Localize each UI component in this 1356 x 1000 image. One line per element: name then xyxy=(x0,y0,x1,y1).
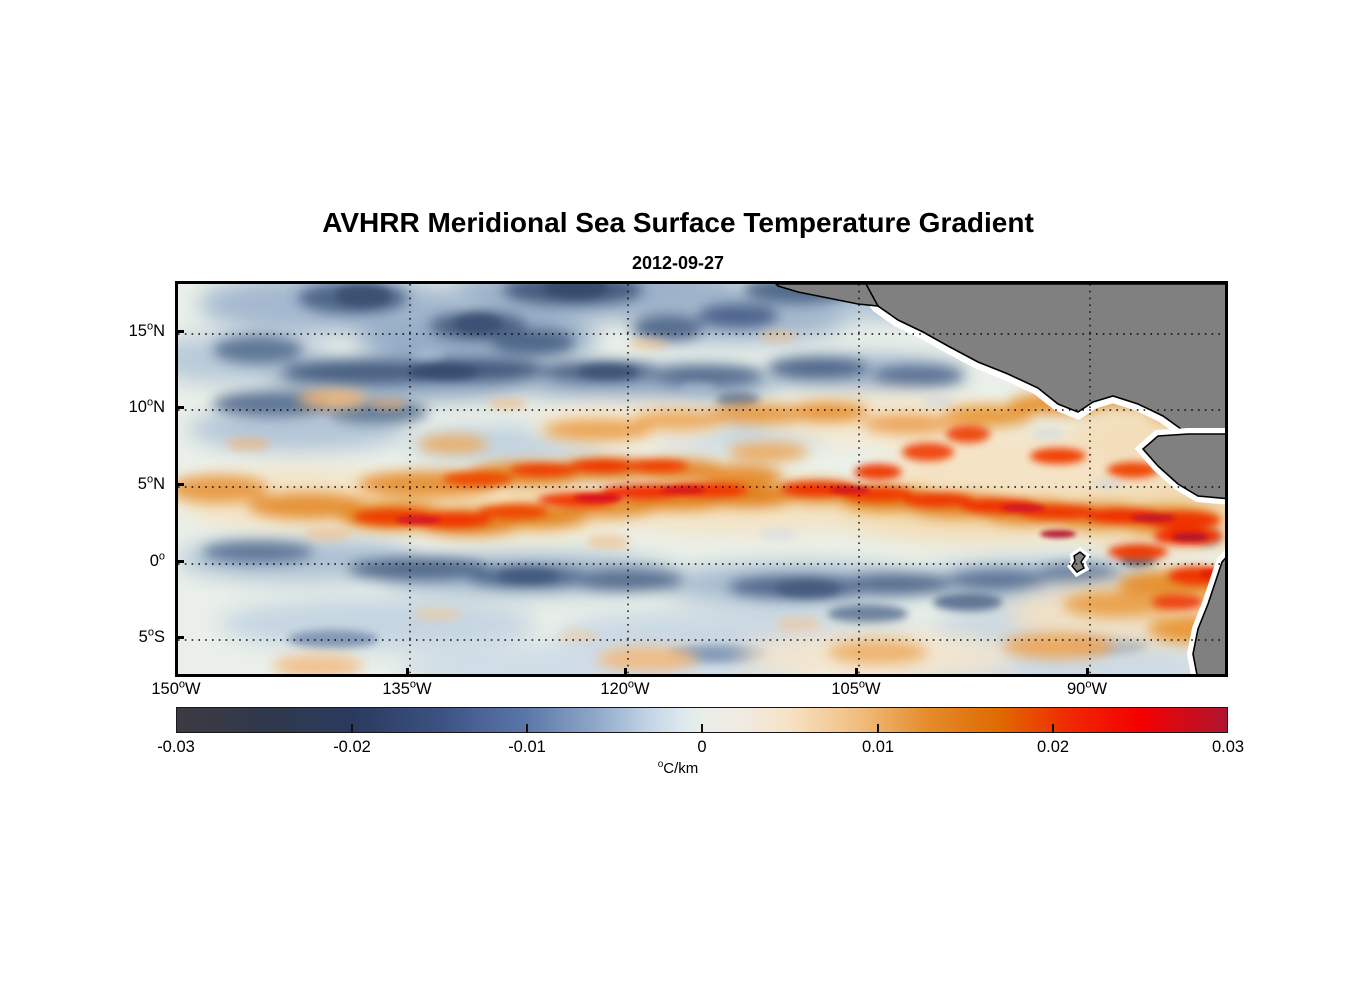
x-tick-105W xyxy=(855,668,858,677)
y-axis-label-5N: 5oN xyxy=(95,475,165,494)
map-axes xyxy=(175,281,1228,677)
colorbar-tick--0.02 xyxy=(351,724,353,733)
x-tick-90W xyxy=(1086,668,1089,677)
colorbar-tick-0 xyxy=(701,724,703,733)
colorbar-label--0.03: -0.03 xyxy=(116,738,236,757)
y-axis-label-10N: 10oN xyxy=(95,398,165,417)
page-title: AVHRR Meridional Sea Surface Temperature… xyxy=(0,207,1356,239)
colorbar-tick-0.02 xyxy=(1052,724,1054,733)
x-tick-120W xyxy=(624,668,627,677)
colorbar-label-0.02: 0.02 xyxy=(993,738,1113,757)
y-tick-15N xyxy=(175,330,184,333)
colorbar-tick-0.01 xyxy=(877,724,879,733)
y-axis-label-5S: 5oS xyxy=(95,628,165,647)
colorbar-label-0.03: 0.03 xyxy=(1168,738,1288,757)
x-axis-label-150W: 150oW xyxy=(121,680,231,699)
y-tick-5N xyxy=(175,483,184,486)
colorbar-label--0.02: -0.02 xyxy=(292,738,412,757)
colorbar-unit-label: oC/km xyxy=(0,760,1356,777)
y-tick-5S xyxy=(175,636,184,639)
colorbar-label-0: 0 xyxy=(642,738,762,757)
x-axis-label-135W: 135oW xyxy=(352,680,462,699)
x-tick-135W xyxy=(406,668,409,677)
colorbar-tick--0.01 xyxy=(526,724,528,733)
sst-gradient-heatmap xyxy=(178,284,1228,677)
x-axis-label-120W: 120oW xyxy=(570,680,680,699)
y-axis-label-0: 0o xyxy=(95,552,165,571)
y-tick-10N xyxy=(175,406,184,409)
y-axis-label-15N: 15oN xyxy=(95,322,165,341)
chart-subtitle: 2012-09-27 xyxy=(0,253,1356,274)
x-tick-150W xyxy=(175,668,178,677)
figure-canvas: AVHRR Meridional Sea Surface Temperature… xyxy=(0,0,1356,1000)
y-tick-0 xyxy=(175,560,184,563)
colorbar-label-0.01: 0.01 xyxy=(818,738,938,757)
x-axis-label-90W: 90oW xyxy=(1032,680,1142,699)
colorbar-label--0.01: -0.01 xyxy=(467,738,587,757)
x-axis-label-105W: 105oW xyxy=(801,680,911,699)
